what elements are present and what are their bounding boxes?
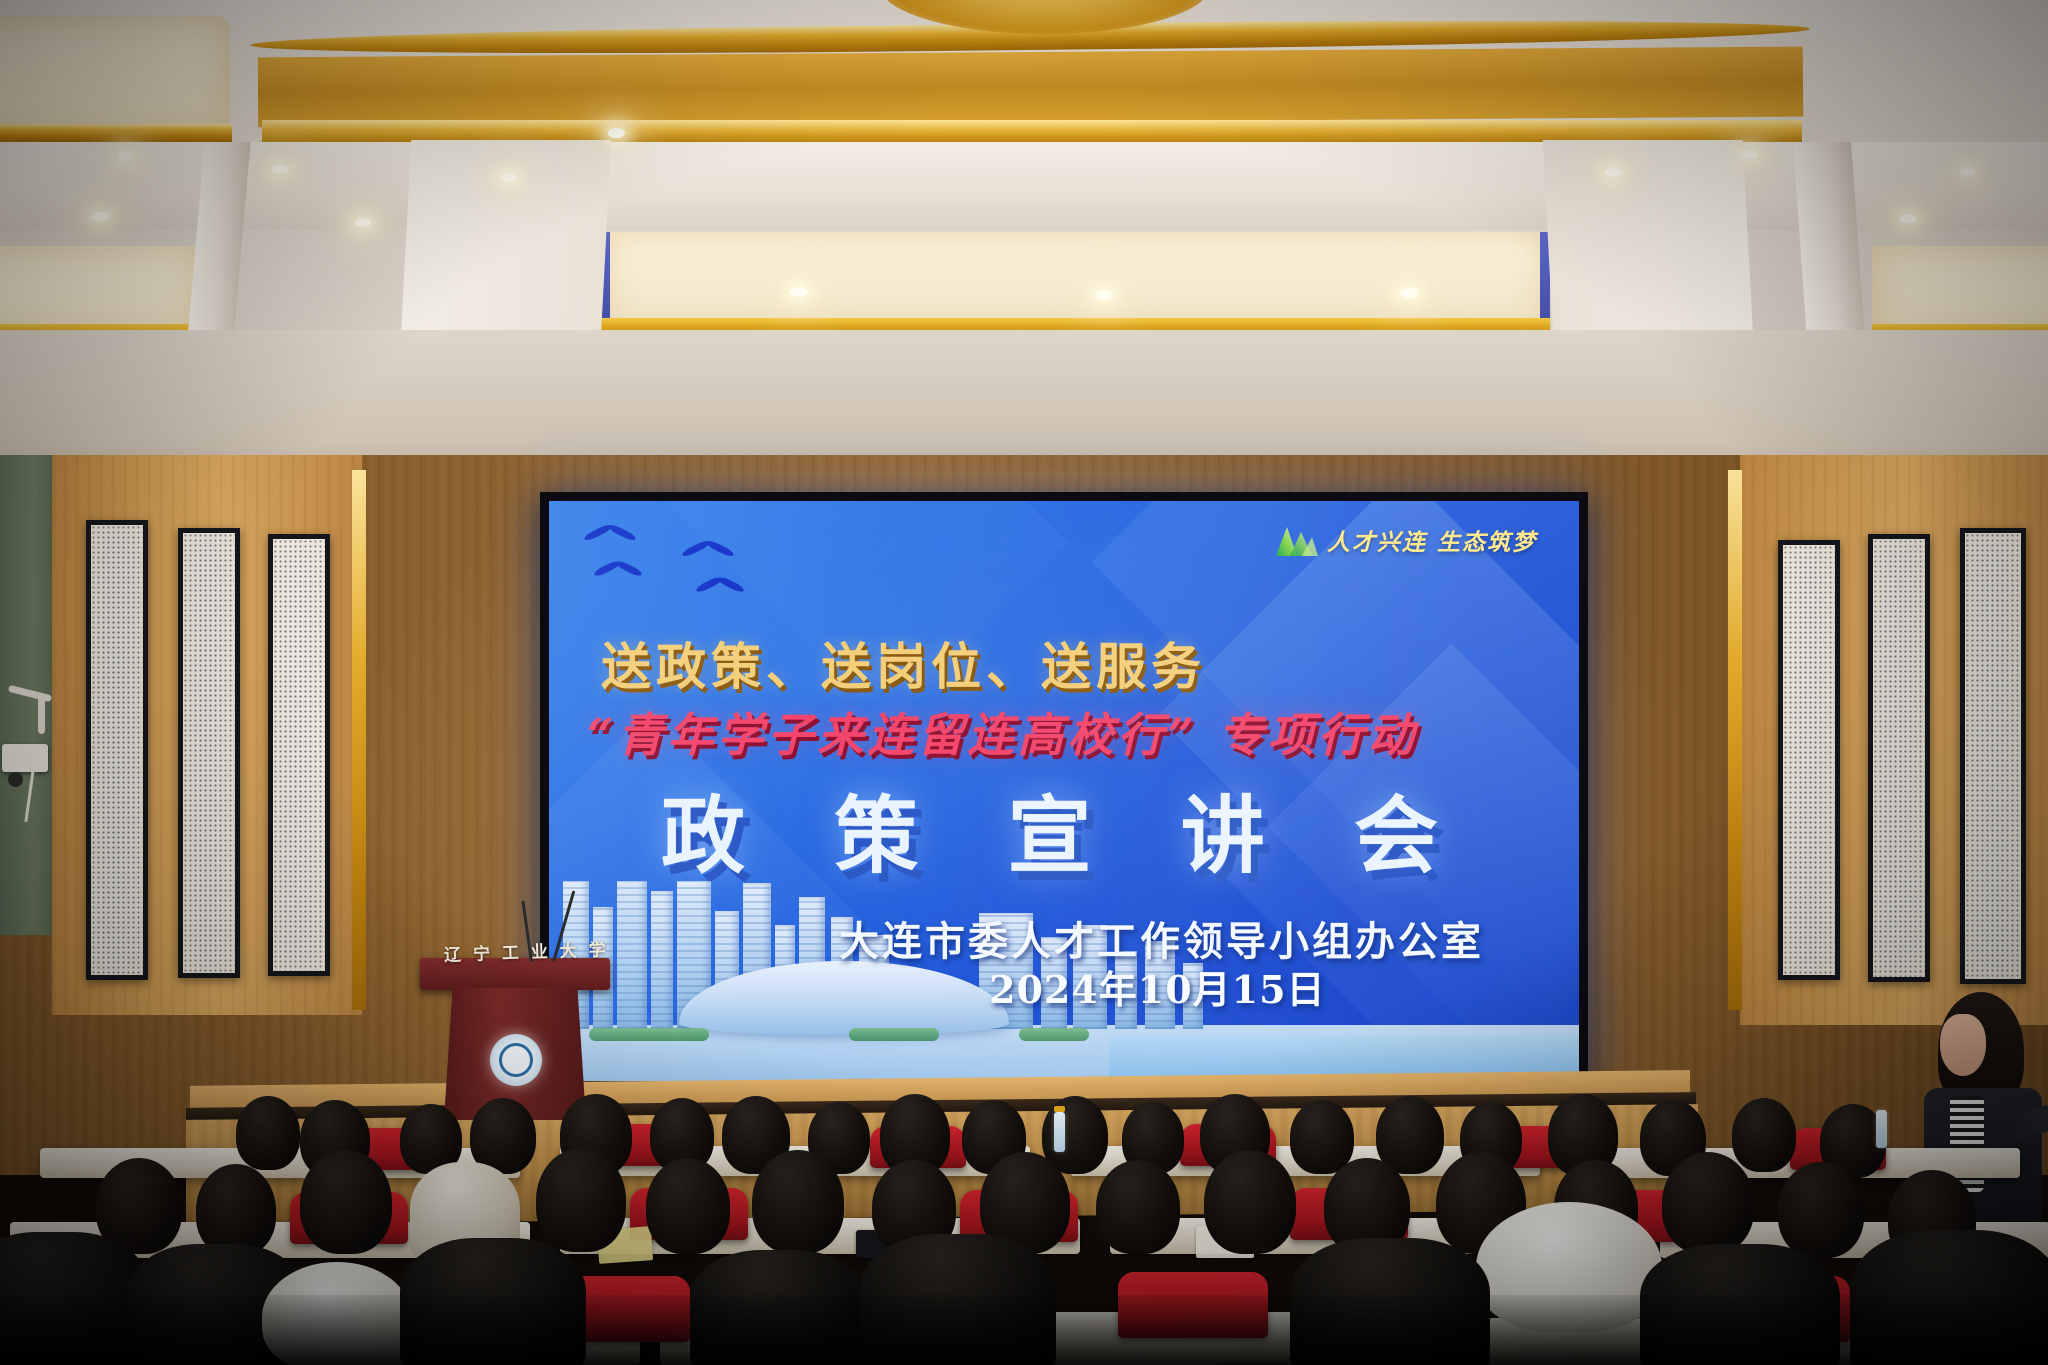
acoustic-panel-right-2 (1868, 534, 1930, 982)
led-display-screen[interactable]: 人才兴连 生态筑梦 送政策、送岗位、送服务 “青年学子来连留连高校行” 专项行动… (540, 492, 1588, 1090)
coffered-ceiling (0, 0, 2048, 340)
audience-head (1662, 1152, 1754, 1254)
auditorium-scene: 人才兴连 生态筑梦 送政策、送岗位、送服务 “青年学子来连留连高校行” 专项行动… (0, 0, 2048, 1365)
recessed-downlight (92, 212, 109, 221)
audience-head (646, 1158, 730, 1254)
recessed-downlight (1400, 288, 1418, 298)
camera-mount-post (38, 694, 45, 734)
acoustic-panel-right-1 (1778, 540, 1840, 980)
ceiling-rib-2 (401, 140, 611, 340)
water-bottle (1054, 1112, 1065, 1152)
ceiling-gold-band-top3 (262, 120, 1802, 142)
audience-head (536, 1148, 626, 1252)
recessed-downlight (790, 287, 808, 297)
university-emblem (490, 1034, 542, 1086)
recessed-downlight (1742, 150, 1758, 159)
acoustic-panel-right-3 (1960, 528, 2026, 984)
panel-mesh (1873, 539, 1925, 977)
ceiling-rib-3 (1543, 140, 1753, 340)
speaker-podium[interactable]: 辽 宁 工 业 大 学 (420, 930, 610, 1120)
acoustic-panel-left-2 (178, 528, 240, 978)
audience-head (1732, 1098, 1796, 1172)
audience-head (1290, 1100, 1354, 1174)
acoustic-panel-left-3 (268, 534, 330, 976)
ceiling-coffer-left (0, 246, 200, 340)
screen-surface: 人才兴连 生态筑梦 送政策、送岗位、送服务 “青年学子来连留连高校行” 专项行动… (549, 501, 1579, 1081)
ceiling-coffer-center (600, 232, 1550, 340)
audience-head (196, 1164, 276, 1256)
recessed-downlight (1605, 168, 1621, 177)
camera-lens-icon (8, 772, 23, 787)
attendant-face (1940, 1014, 1986, 1076)
wall-mounted-camera (2, 744, 48, 772)
recessed-downlight (355, 218, 371, 227)
acoustic-panel-left-1 (86, 520, 148, 980)
recessed-downlight (1095, 290, 1113, 300)
recessed-downlight (272, 165, 288, 174)
bottle-cap (1054, 1106, 1065, 1112)
recessed-downlight (1960, 167, 1975, 176)
recessed-downlight (118, 152, 133, 161)
recessed-downlight (608, 128, 625, 138)
wall-cove-light-right (1728, 470, 1742, 1010)
wall-cove-light-left (352, 470, 366, 1010)
audience-head (752, 1150, 844, 1254)
ceiling-gold-band-top2 (258, 47, 1803, 128)
audience-head (1778, 1162, 1864, 1258)
ceiling-coffer-upperleft (0, 16, 230, 140)
audience-head (236, 1096, 300, 1170)
panel-mesh (1783, 545, 1835, 975)
audience-head (300, 1150, 392, 1254)
screen-sheen (549, 501, 1579, 1081)
panel-mesh (91, 525, 143, 975)
ceiling-gold-upperleft (0, 124, 232, 142)
ceiling-coffer-right (1872, 246, 2048, 340)
recessed-downlight (1900, 214, 1917, 223)
audience-head (1204, 1150, 1296, 1254)
audience-head (1096, 1160, 1180, 1254)
panel-mesh (273, 539, 325, 971)
panel-mesh (1965, 533, 2021, 979)
panel-mesh (183, 533, 235, 973)
foreground-shadow (0, 1295, 2048, 1365)
water-bottle (1876, 1110, 1887, 1148)
recessed-downlight (500, 173, 517, 182)
